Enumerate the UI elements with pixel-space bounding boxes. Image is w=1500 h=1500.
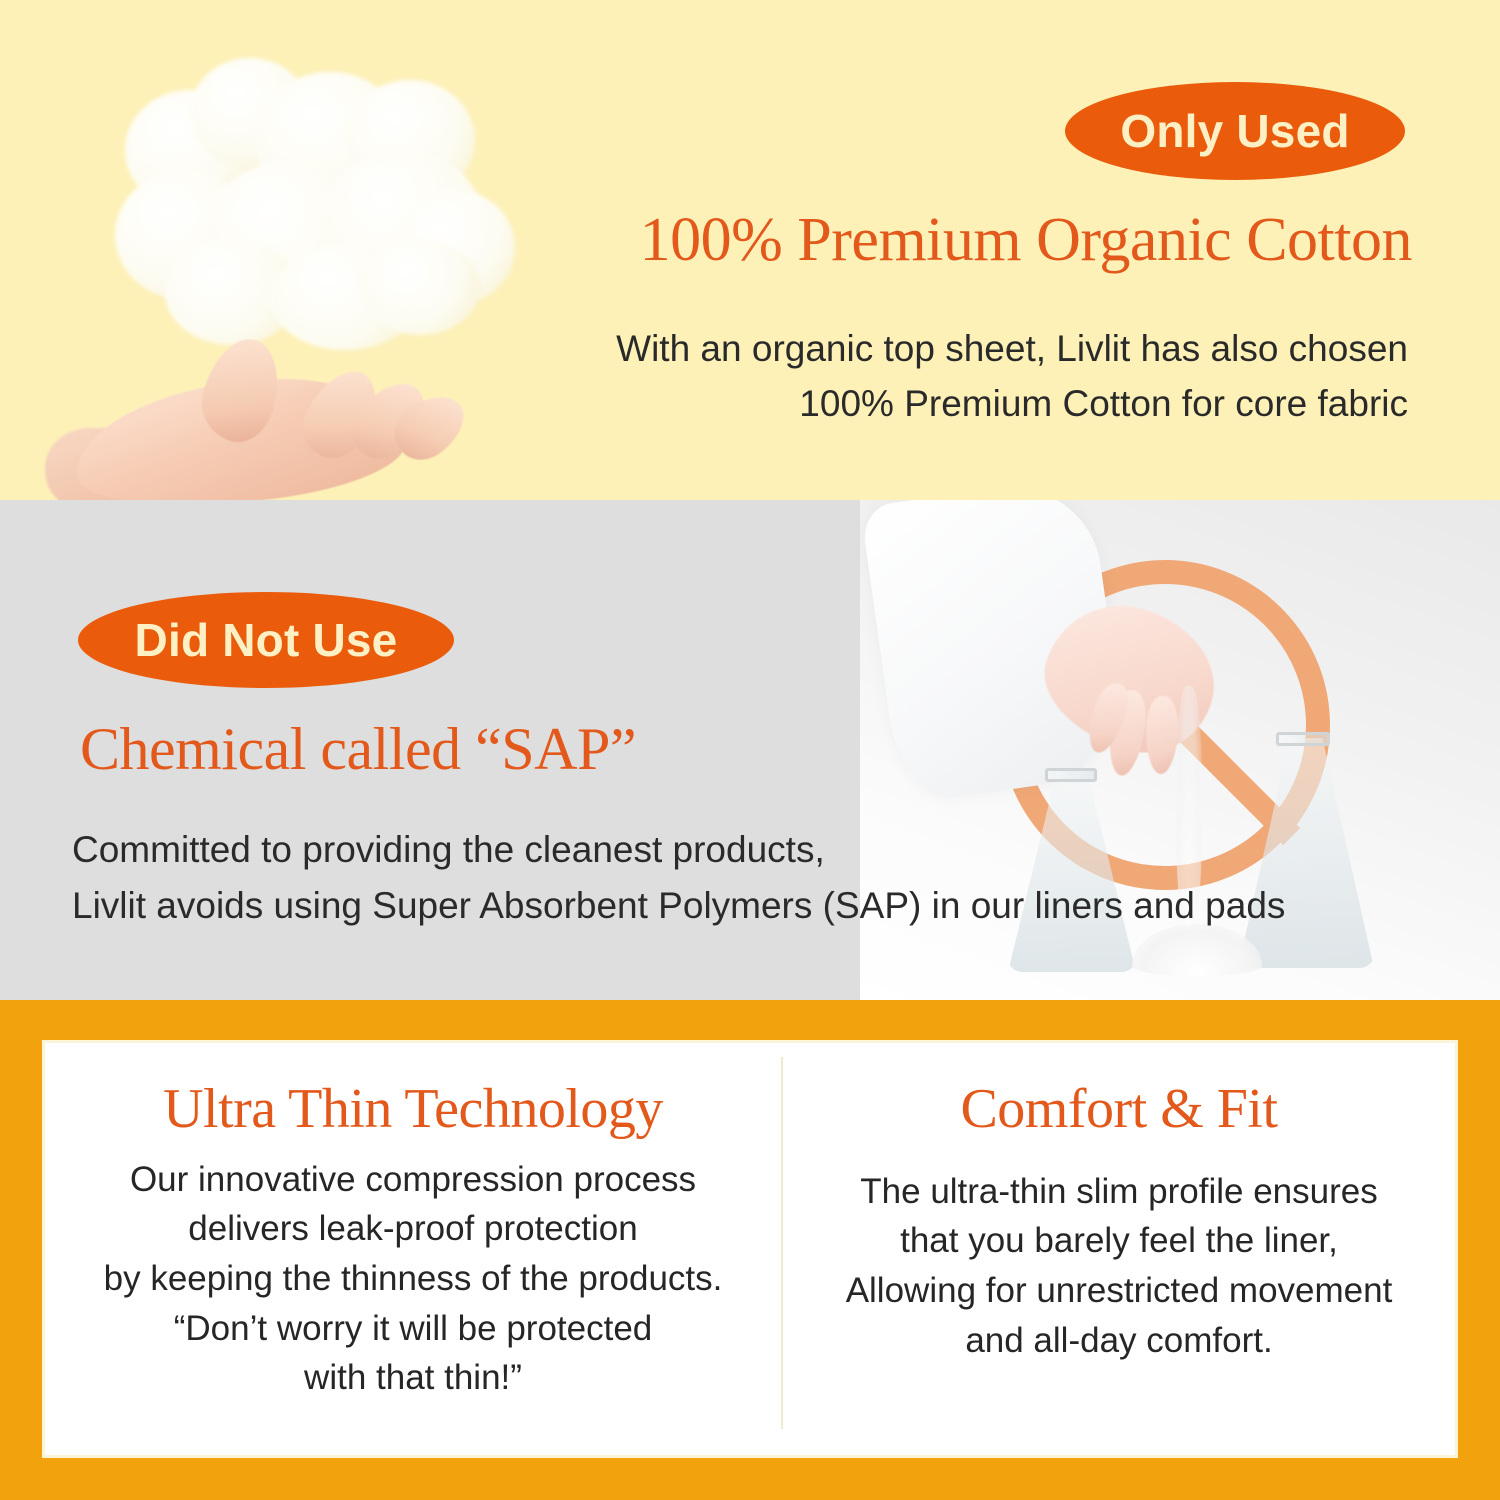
comfort-fit-line-4: and all-day comfort. — [805, 1316, 1433, 1366]
cotton-cloud-icon — [95, 50, 515, 350]
sap-body-line-2: Livlit avoids using Super Absorbent Poly… — [72, 878, 1362, 934]
sap-body-line-1: Committed to providing the cleanest prod… — [72, 822, 1362, 878]
feature-comfort-fit: Comfort & Fit The ultra-thin slim profil… — [783, 1043, 1455, 1455]
comfort-fit-line-2: that you barely feel the liner, — [805, 1216, 1433, 1266]
section-organic-cotton: Only Used 100% Premium Organic Cotton Wi… — [0, 0, 1500, 500]
comfort-fit-body: The ultra-thin slim profile ensures that… — [805, 1167, 1433, 1366]
ultra-thin-heading: Ultra Thin Technology — [67, 1079, 759, 1141]
comfort-fit-heading: Comfort & Fit — [805, 1079, 1433, 1141]
ultra-thin-line-5: with that thin!” — [67, 1353, 759, 1403]
ultra-thin-line-4: “Don’t worry it will be protected — [67, 1304, 759, 1354]
cotton-copy-block: Only Used 100% Premium Organic Cotton Wi… — [540, 0, 1460, 500]
badge-only-used: Only Used — [1065, 82, 1405, 180]
ultra-thin-line-2: delivers leak-proof protection — [67, 1204, 759, 1254]
badge-did-not-use: Did Not Use — [78, 592, 454, 688]
cotton-body-text: With an organic top sheet, Livlit has al… — [508, 322, 1408, 432]
cotton-body-line-1: With an organic top sheet, Livlit has al… — [508, 322, 1408, 377]
open-palm-hand — [55, 320, 515, 500]
sap-body-text: Committed to providing the cleanest prod… — [72, 822, 1362, 933]
sap-heading: Chemical called “SAP” — [80, 718, 636, 781]
comfort-fit-line-3: Allowing for unrestricted movement — [805, 1266, 1433, 1316]
ultra-thin-body: Our innovative compression process deliv… — [67, 1155, 759, 1403]
ultra-thin-line-1: Our innovative compression process — [67, 1155, 759, 1205]
cotton-cloud-illustration — [55, 30, 555, 500]
cotton-heading: 100% Premium Organic Cotton — [512, 208, 1412, 273]
features-card: Ultra Thin Technology Our innovative com… — [42, 1040, 1458, 1458]
cotton-body-line-2: 100% Premium Cotton for core fabric — [508, 377, 1408, 432]
comfort-fit-line-1: The ultra-thin slim profile ensures — [805, 1167, 1433, 1217]
section-features: Ultra Thin Technology Our innovative com… — [0, 1000, 1500, 1500]
infographic-page: Only Used 100% Premium Organic Cotton Wi… — [0, 0, 1500, 1500]
feature-ultra-thin: Ultra Thin Technology Our innovative com… — [45, 1043, 781, 1455]
ultra-thin-line-3: by keeping the thinness of the products. — [67, 1254, 759, 1304]
